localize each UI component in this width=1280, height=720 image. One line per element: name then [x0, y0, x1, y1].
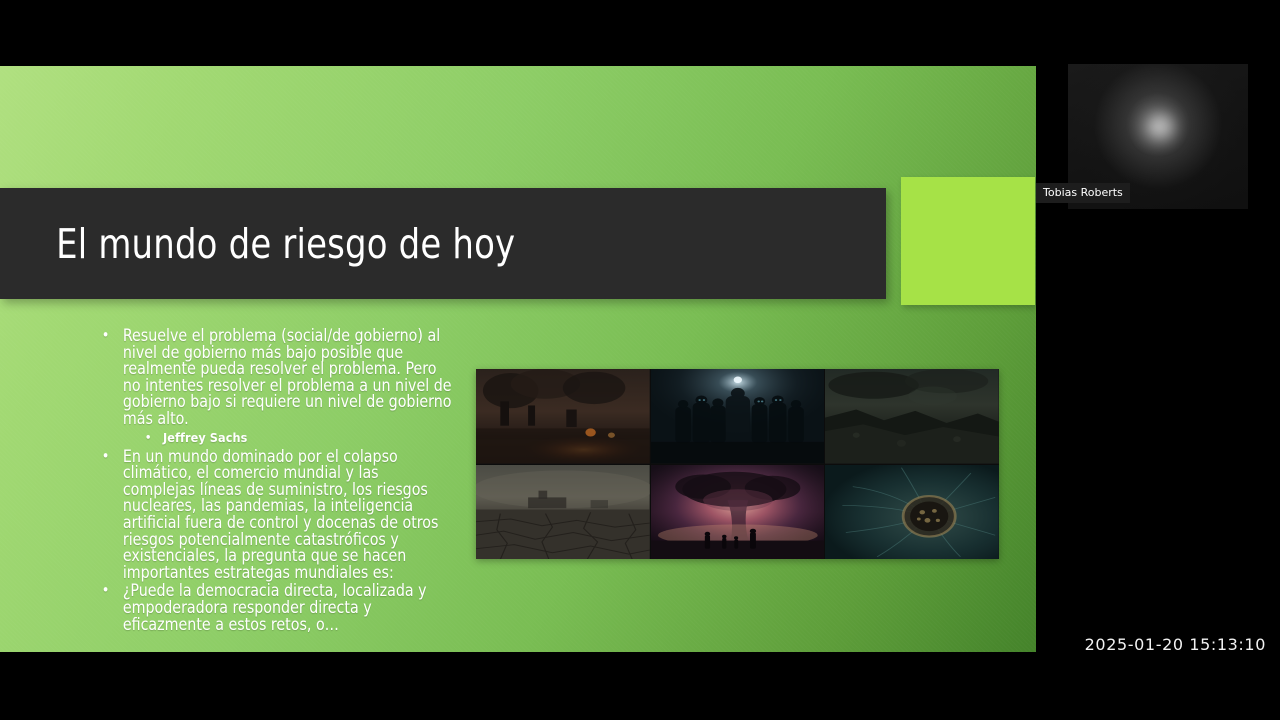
presentation-slide: El mundo de riesgo de hoy Resuelve el pr…	[0, 66, 1036, 652]
virus-pathogen-image	[825, 465, 999, 560]
wasteland-image	[825, 369, 999, 464]
slide-accent-square	[901, 177, 1035, 305]
slide-title-bar: El mundo de riesgo de hoy	[0, 188, 886, 299]
drought-image	[476, 465, 650, 560]
list-item: Resuelve el problema (social/de gobierno…	[95, 328, 452, 428]
list-item: En un mundo dominado por el colapso clim…	[95, 449, 452, 582]
participant-name-label: Tobias Roberts	[1036, 183, 1130, 203]
industrial-pollution-image	[476, 369, 650, 464]
recording-timestamp: 2025-01-20 15:13:10	[1085, 635, 1266, 654]
slide-body-text: Resuelve el problema (social/de gobierno…	[95, 328, 467, 635]
list-item: ¿Puede la democracia directa, localizada…	[95, 583, 452, 633]
video-light-blob	[1140, 111, 1176, 145]
nuclear-explosion-image	[651, 465, 825, 560]
screen-share-stage: El mundo de riesgo de hoy Resuelve el pr…	[0, 0, 1280, 720]
robot-army-image	[651, 369, 825, 464]
risk-image-collage	[476, 369, 999, 559]
list-item-sub: Jeffrey Sachs	[95, 431, 467, 445]
page-title: El mundo de riesgo de hoy	[0, 220, 515, 268]
